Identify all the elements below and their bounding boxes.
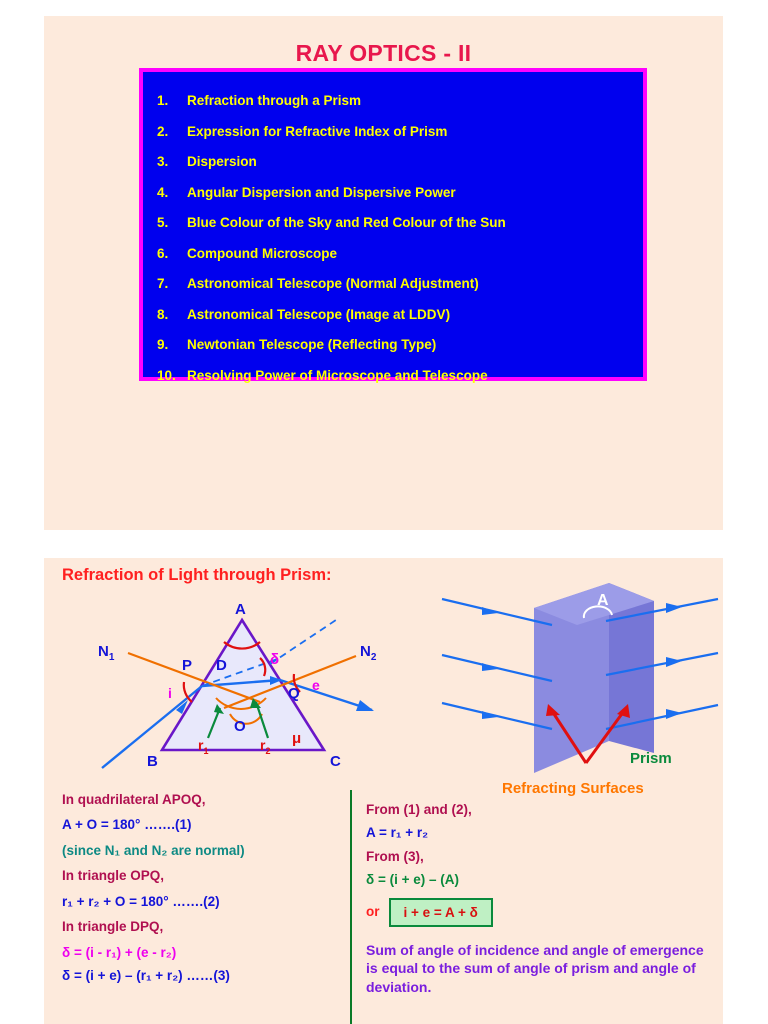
list-item-number: 7. — [157, 269, 187, 300]
label-vertex-c: C — [330, 753, 341, 770]
derivation-right-column: From (1) and (2), A = r₁ + r₂ From (3), … — [366, 802, 706, 1011]
list-item[interactable]: 6. Compound Microscope — [143, 239, 643, 270]
prism-ray-diagram: A B C P Q O D N1 N2 i e δ r1 r2 μ — [84, 598, 404, 798]
derivation-line: δ = (i + e) – (r₁ + r₂) ……(3) — [62, 968, 348, 984]
list-item[interactable]: 3. Dispersion — [143, 147, 643, 178]
or-label: or — [366, 904, 380, 920]
boxed-formula: i + e = A + δ — [389, 898, 493, 927]
label-point-o: O — [234, 718, 246, 735]
list-item[interactable]: 4. Angular Dispersion and Dispersive Pow… — [143, 178, 643, 209]
derivation-left-column: In quadrilateral APOQ, A + O = 180° …….(… — [62, 792, 348, 994]
list-item[interactable]: 7. Astronomical Telescope (Normal Adjust… — [143, 269, 643, 300]
list-item-label: Blue Colour of the Sky and Red Colour of… — [187, 208, 506, 239]
list-item-number: 1. — [157, 86, 187, 117]
derivation-line: From (3), — [366, 849, 706, 865]
label-angle-i: i — [168, 685, 172, 701]
label-prism: Prism — [630, 750, 672, 767]
list-item-number: 4. — [157, 178, 187, 209]
list-item-label: Refraction through a Prism — [187, 86, 361, 117]
outgoing-ray-2-arrow — [666, 657, 682, 667]
derivation-line: r₁ + r₂ + O = 180° …….(2) — [62, 894, 348, 910]
label-normal-n2: N2 — [360, 643, 377, 663]
prism-3d-illustration: A Prism — [434, 563, 723, 803]
list-item-label: Compound Microscope — [187, 239, 337, 270]
column-divider — [350, 790, 352, 1024]
list-item-label: Expression for Refractive Index of Prism — [187, 117, 447, 148]
list-item-number: 5. — [157, 208, 187, 239]
prism-3d-svg: A Prism — [434, 563, 723, 803]
derivation-line: In quadrilateral APOQ, — [62, 792, 348, 808]
list-item-label: Astronomical Telescope (Image at LDDV) — [187, 300, 450, 331]
list-item[interactable]: 1. Refraction through a Prism — [143, 86, 643, 117]
label-point-d: D — [216, 657, 227, 674]
list-item-label: Resolving Power of Microscope and Telesc… — [187, 361, 488, 392]
derivation-line: A = r₁ + r₂ — [366, 825, 706, 841]
list-item[interactable]: 5. Blue Colour of the Sky and Red Colour… — [143, 208, 643, 239]
derivation-line: δ = (i - r₁) + (e - r₂) — [62, 945, 348, 961]
label-point-q: Q — [288, 685, 300, 702]
derivation-line: δ = (i + e) – (A) — [366, 872, 706, 888]
derivation-line: A + O = 180° …….(1) — [62, 817, 348, 833]
list-item-number: 10. — [157, 361, 187, 392]
list-item-number: 3. — [157, 147, 187, 178]
dashed-extension-emergent — [270, 620, 336, 664]
label-normal-n1: N1 — [98, 643, 115, 663]
list-item-number: 6. — [157, 239, 187, 270]
deck-title: RAY OPTICS - II — [44, 40, 723, 67]
slide-1: RAY OPTICS - II 1. Refraction through a … — [44, 16, 723, 530]
list-item-number: 9. — [157, 330, 187, 361]
conclusion-text: Sum of angle of incidence and angle of e… — [366, 941, 706, 997]
derivation-line: From (1) and (2), — [366, 802, 706, 818]
section-title: Refraction of Light through Prism: — [62, 566, 332, 585]
list-item-number: 8. — [157, 300, 187, 331]
list-item[interactable]: 9. Newtonian Telescope (Reflecting Type) — [143, 330, 643, 361]
slide-deck-page: RAY OPTICS - II 1. Refraction through a … — [0, 0, 768, 1024]
list-item-label: Angular Dispersion and Dispersive Power — [187, 178, 456, 209]
label-vertex-a: A — [235, 601, 246, 618]
list-item-label: Dispersion — [187, 147, 257, 178]
label-angle-e: e — [312, 677, 320, 693]
ray-diagram-svg: A B C P Q O D N1 N2 i e δ r1 r2 μ — [84, 598, 404, 798]
outgoing-ray-1-arrow — [666, 603, 682, 613]
label-angle-delta: δ — [270, 651, 279, 668]
label-vertex-b: B — [147, 753, 158, 770]
list-item[interactable]: 10. Resolving Power of Microscope and Te… — [143, 361, 643, 392]
label-refractive-index: μ — [292, 730, 301, 747]
derivation-line: In triangle DPQ, — [62, 919, 348, 935]
toc-list: 1. Refraction through a Prism 2. Express… — [143, 72, 643, 391]
table-of-contents-box: 1. Refraction through a Prism 2. Express… — [139, 68, 647, 381]
list-item-label: Astronomical Telescope (Normal Adjustmen… — [187, 269, 479, 300]
list-item[interactable]: 8. Astronomical Telescope (Image at LDDV… — [143, 300, 643, 331]
emergent-ray-arrow — [356, 700, 374, 711]
list-item-number: 2. — [157, 117, 187, 148]
boxed-formula-row: or i + e = A + δ — [366, 898, 706, 927]
label-refracting-surfaces: Refracting Surfaces — [502, 780, 644, 797]
label-point-p: P — [182, 657, 192, 674]
slide-2: Refraction of Light through Prism: — [44, 558, 723, 1024]
derivation-line: In triangle OPQ, — [62, 868, 348, 884]
derivation-line: (since N₁ and N₂ are normal) — [62, 843, 348, 859]
list-item[interactable]: 2. Expression for Refractive Index of Pr… — [143, 117, 643, 148]
list-item-label: Newtonian Telescope (Reflecting Type) — [187, 330, 436, 361]
